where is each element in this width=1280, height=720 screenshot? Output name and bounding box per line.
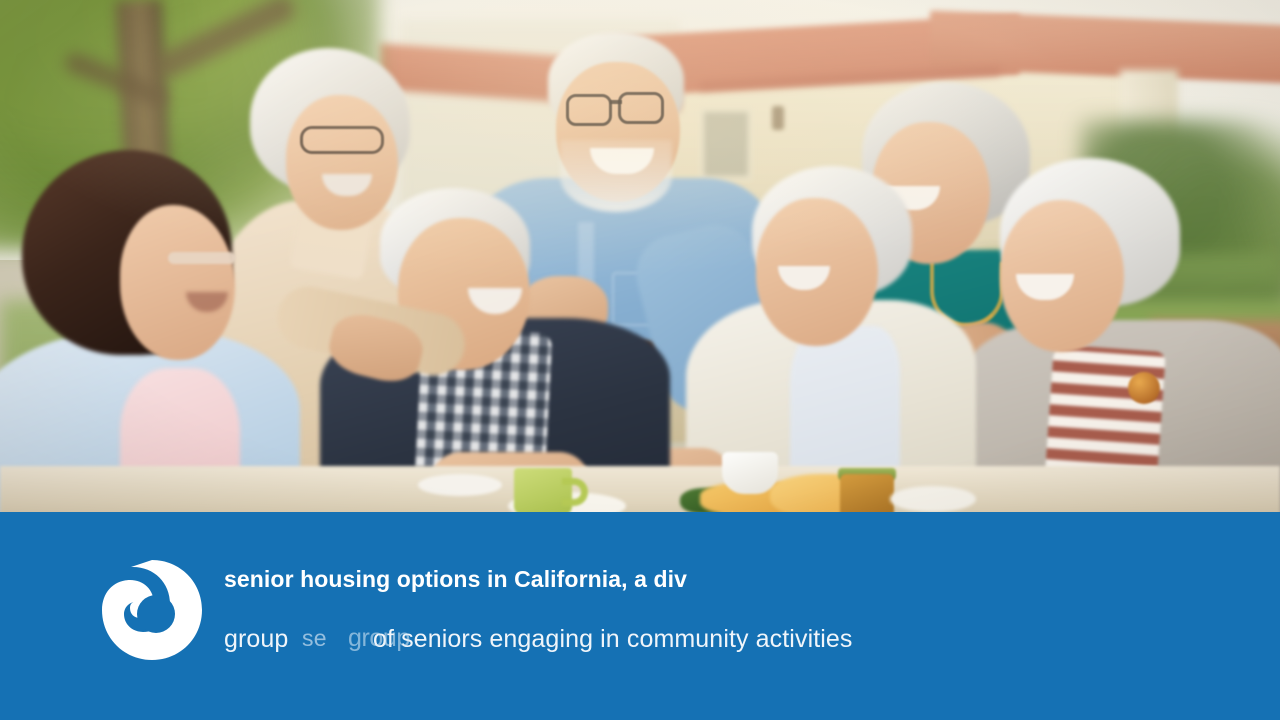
caption-banner: senior housing options in California, a … xyxy=(0,512,1280,720)
banner-screen: senior housing options in California, a … xyxy=(0,0,1280,720)
amber-jar xyxy=(840,474,894,512)
banner-subtitle-ghost-b: group xyxy=(348,624,410,653)
white-plate-left xyxy=(418,474,502,496)
person-2-face xyxy=(286,95,398,230)
banner-subtitle-row: group of seniors engaging in community a… xyxy=(224,624,1224,658)
person-7-brooch xyxy=(1128,372,1160,404)
hero-photo xyxy=(0,0,1280,512)
wall-lamp xyxy=(772,106,784,130)
banner-title: senior housing options in California, a … xyxy=(224,566,1224,594)
caption-text-column: senior housing options in California, a … xyxy=(224,566,1224,658)
white-plate-right xyxy=(890,486,976,512)
white-cup xyxy=(722,452,778,494)
spiral-swirl-logo[interactable] xyxy=(100,558,204,662)
person-4-eyeglasses-bridge xyxy=(610,100,622,104)
person-4-eyeglasses-right xyxy=(618,92,664,124)
dining-table xyxy=(0,466,1280,512)
banner-subtitle-ghost-a: se xyxy=(302,625,327,652)
person-2-eyeglasses xyxy=(300,126,384,154)
person-1-eyeglasses xyxy=(168,252,236,264)
person-4-eyeglasses-left xyxy=(566,94,612,126)
house-window xyxy=(700,108,752,180)
